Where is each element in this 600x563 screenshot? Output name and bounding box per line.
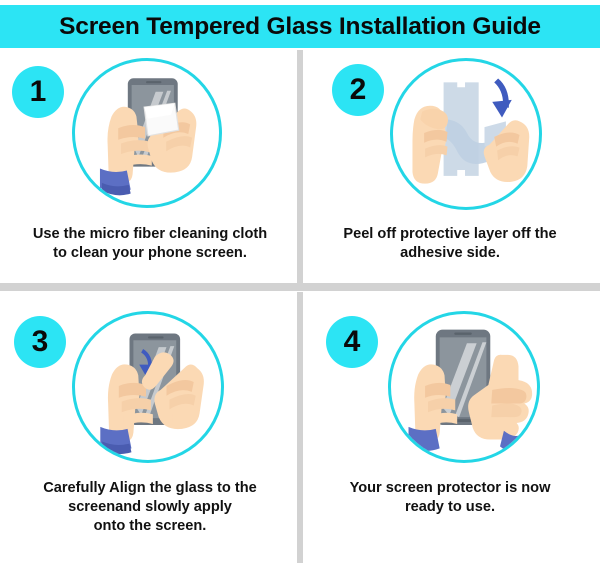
- installation-guide-infographic: Screen Tempered Glass Installation Guide…: [0, 0, 600, 563]
- step-caption-3: Carefully Align the glass to the screena…: [0, 479, 300, 536]
- step-illustration-4: [388, 311, 540, 463]
- step-panel-2: 2: [300, 50, 600, 283]
- step-caption-1: Use the micro fiber cleaning cloth to cl…: [0, 225, 300, 263]
- step-caption-4: Your screen protector is now ready to us…: [300, 479, 600, 517]
- step-panel-4: 4: [300, 291, 600, 563]
- step-badge-1: 1: [12, 66, 64, 118]
- step-number-1: 1: [30, 77, 47, 107]
- caption-line: to clean your phone screen.: [0, 244, 300, 263]
- caption-line: Peel off protective layer off the: [300, 225, 600, 244]
- step-number-4: 4: [344, 327, 361, 357]
- step-panel-3: 3: [0, 291, 300, 563]
- caption-line: screenand slowly apply: [0, 498, 300, 517]
- page-title: Screen Tempered Glass Installation Guide: [59, 13, 541, 41]
- caption-line: onto the screen.: [0, 517, 300, 536]
- step-badge-2: 2: [332, 64, 384, 116]
- step-badge-3: 3: [14, 316, 66, 368]
- step-illustration-3: [72, 311, 224, 463]
- step-badge-4: 4: [326, 316, 378, 368]
- horizontal-divider: [0, 283, 600, 291]
- caption-line: Use the micro fiber cleaning cloth: [0, 225, 300, 244]
- caption-line: ready to use.: [300, 498, 600, 517]
- caption-line: Your screen protector is now: [300, 479, 600, 498]
- caption-line: adhesive side.: [300, 244, 600, 263]
- step-caption-2: Peel off protective layer off the adhesi…: [300, 225, 600, 263]
- step-number-2: 2: [350, 75, 367, 105]
- step-number-3: 3: [32, 327, 49, 357]
- step-illustration-2: [390, 58, 542, 210]
- step-panel-1: 1: [0, 50, 300, 283]
- step-illustration-1: [72, 58, 222, 208]
- header-bar: Screen Tempered Glass Installation Guide: [0, 5, 600, 48]
- caption-line: Carefully Align the glass to the: [0, 479, 300, 498]
